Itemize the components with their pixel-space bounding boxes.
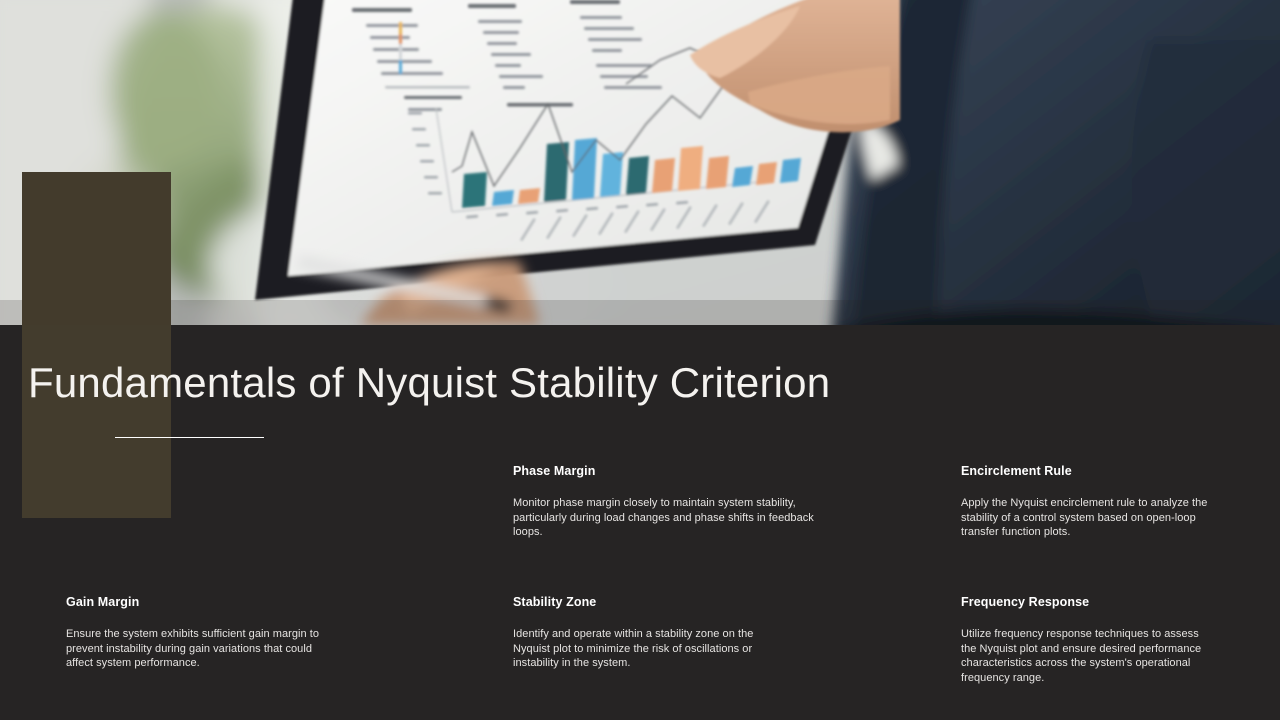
point-stability-zone: Stability Zone Identify and operate with… bbox=[513, 595, 775, 671]
point-encirclement-rule: Encirclement Rule Apply the Nyquist enci… bbox=[961, 464, 1216, 540]
point-gain-margin: Gain Margin Ensure the system exhibits s… bbox=[66, 595, 321, 671]
point-body: Utilize frequency response techniques to… bbox=[961, 627, 1216, 685]
accent-block-overlay bbox=[22, 172, 171, 325]
point-frequency-response: Frequency Response Utilize frequency res… bbox=[961, 595, 1216, 685]
point-body: Identify and operate within a stability … bbox=[513, 627, 775, 671]
point-title: Phase Margin bbox=[513, 464, 818, 478]
point-title: Stability Zone bbox=[513, 595, 775, 609]
point-title: Gain Margin bbox=[66, 595, 321, 609]
point-body: Monitor phase margin closely to maintain… bbox=[513, 496, 818, 540]
presentation-slide: Fundamentals of Nyquist Stability Criter… bbox=[0, 0, 1280, 720]
header-photo bbox=[0, 0, 1280, 325]
slide-title-text: Fundamentals of Nyquist Stability Criter… bbox=[28, 362, 830, 404]
point-title: Frequency Response bbox=[961, 595, 1216, 609]
title-divider bbox=[115, 437, 264, 438]
point-body: Apply the Nyquist encirclement rule to a… bbox=[961, 496, 1216, 540]
points-grid: Phase Margin Monitor phase margin closel… bbox=[0, 455, 1280, 720]
point-title: Encirclement Rule bbox=[961, 464, 1216, 478]
page-title: Fundamentals of Nyquist Stability Criter… bbox=[28, 362, 830, 404]
point-body: Ensure the system exhibits sufficient ga… bbox=[66, 627, 321, 671]
header-photo-illustration bbox=[0, 0, 1280, 325]
point-phase-margin: Phase Margin Monitor phase margin closel… bbox=[513, 464, 818, 540]
